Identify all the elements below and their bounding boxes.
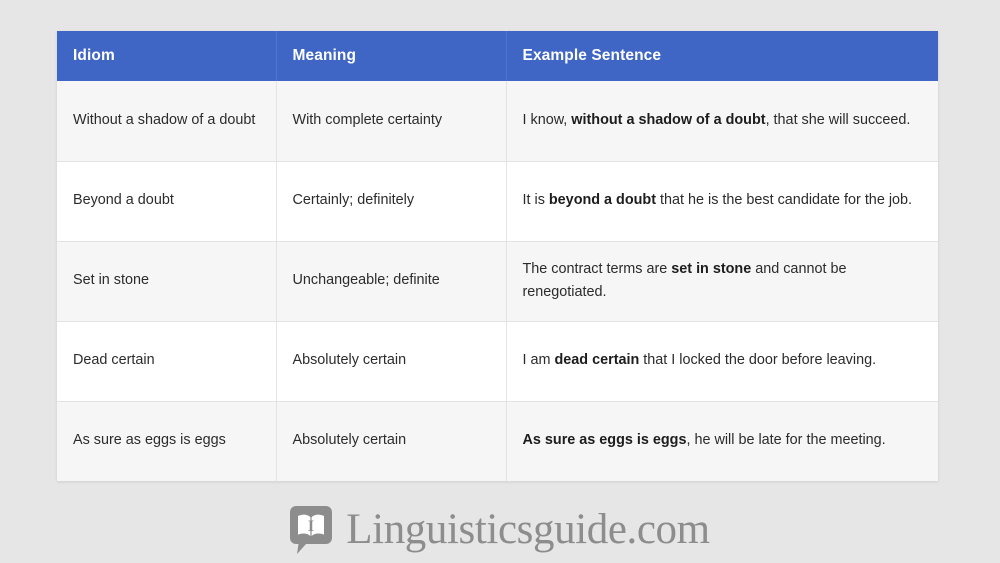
example-suffix: , he will be late for the meeting.: [686, 432, 885, 448]
column-header-meaning: Meaning: [276, 31, 506, 81]
cell-example-sentence: It is beyond a doubt that he is the best…: [506, 161, 938, 241]
example-idiom-highlight: dead certain: [555, 352, 640, 368]
column-header-example: Example Sentence: [506, 31, 938, 81]
example-prefix: I am: [523, 352, 555, 368]
example-idiom-highlight: beyond a doubt: [549, 192, 656, 208]
cell-example-sentence: The contract terms are set in stone and …: [506, 241, 938, 321]
cell-idiom: Set in stone: [57, 241, 276, 321]
site-logo: I Linguisticsguide.com: [0, 496, 1000, 563]
example-idiom-highlight: As sure as eggs is eggs: [523, 432, 687, 448]
example-suffix: , that she will succeed.: [766, 112, 911, 128]
cell-example-sentence: As sure as eggs is eggs, he will be late…: [506, 401, 938, 481]
cell-idiom: Without a shadow of a doubt: [57, 81, 276, 161]
example-idiom-highlight: set in stone: [671, 261, 751, 277]
cell-idiom: As sure as eggs is eggs: [57, 401, 276, 481]
cell-idiom: Dead certain: [57, 321, 276, 401]
cell-meaning: Absolutely certain: [276, 401, 506, 481]
cell-meaning: Absolutely certain: [276, 321, 506, 401]
table-row: As sure as eggs is eggsAbsolutely certai…: [57, 401, 938, 481]
column-header-idiom: Idiom: [57, 31, 276, 81]
cell-idiom: Beyond a doubt: [57, 161, 276, 241]
example-prefix: The contract terms are: [523, 261, 672, 277]
table-row: Beyond a doubtCertainly; definitelyIt is…: [57, 161, 938, 241]
site-wordmark: Linguisticsguide.com: [346, 508, 709, 551]
example-idiom-highlight: without a shadow of a doubt: [571, 112, 765, 128]
cell-meaning: Unchangeable; definite: [276, 241, 506, 321]
cell-meaning: Certainly; definitely: [276, 161, 506, 241]
example-suffix: that he is the best candidate for the jo…: [656, 192, 912, 208]
table-row: Set in stoneUnchangeable; definiteThe co…: [57, 241, 938, 321]
table-header-row: Idiom Meaning Example Sentence: [57, 31, 938, 81]
cell-example-sentence: I am dead certain that I locked the door…: [506, 321, 938, 401]
example-suffix: that I locked the door before leaving.: [639, 352, 876, 368]
table-body: Without a shadow of a doubtWith complete…: [57, 81, 938, 481]
svg-text:I: I: [308, 518, 314, 535]
cell-meaning: With complete certainty: [276, 81, 506, 161]
table-header: Idiom Meaning Example Sentence: [57, 31, 938, 81]
idiom-table-container: Idiom Meaning Example Sentence Without a…: [57, 31, 938, 481]
speech-bubble-book-icon: I: [290, 506, 332, 554]
table-row: Dead certainAbsolutely certainI am dead …: [57, 321, 938, 401]
idiom-table: Idiom Meaning Example Sentence Without a…: [57, 31, 938, 481]
cell-example-sentence: I know, without a shadow of a doubt, tha…: [506, 81, 938, 161]
example-prefix: I know,: [523, 112, 572, 128]
table-row: Without a shadow of a doubtWith complete…: [57, 81, 938, 161]
example-prefix: It is: [523, 192, 549, 208]
